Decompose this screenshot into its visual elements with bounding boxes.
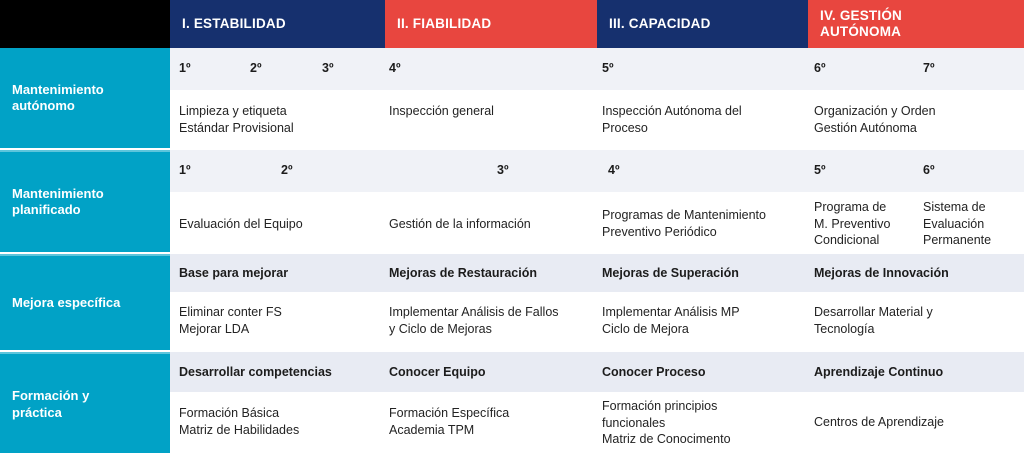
ordinal-marker: 4º — [608, 162, 620, 179]
matrix-entry: Formación principios funcionales Matriz … — [602, 398, 731, 448]
table-row: Formación y práctica Desarrollar compete… — [0, 352, 1024, 453]
matrix-entry: Sistema de Evaluación Permanente — [923, 199, 991, 249]
table-row: Mantenimiento autónomo 1º 2º 3º 4º 5º 6º… — [0, 48, 1024, 150]
ordinal-marker: 3º — [497, 162, 509, 179]
phase-title: Mejoras de Superación — [602, 265, 739, 282]
phase-title: Desarrollar competencias — [179, 364, 332, 381]
entry-band: Limpieza y etiqueta Estándar Provisional… — [170, 90, 1024, 148]
matrix-entry: Implementar Análisis de Fallos y Ciclo d… — [389, 304, 559, 337]
matrix-entry: Programa de M. Preventivo Condicional — [814, 199, 890, 249]
matrix-entry: Inspección Autónoma del Proceso — [602, 103, 742, 136]
entry-band: Evaluación del Equipo Gestión de la info… — [170, 192, 1024, 252]
matrix-entry: Eliminar conter FS Mejorar LDA — [179, 304, 282, 337]
ordinal-marker: 5º — [814, 162, 826, 179]
header-pillar-estabilidad: I. ESTABILIDAD — [170, 0, 385, 48]
row-content-mantenimiento-planificado: 1º 2º 3º 4º 5º 6º Evaluación del Equipo … — [170, 150, 1024, 252]
header-corner-cell — [0, 0, 170, 48]
row-content-mantenimiento-autonomo: 1º 2º 3º 4º 5º 6º 7º Limpieza y etiqueta… — [170, 48, 1024, 148]
matrix-entry: Organización y Orden Gestión Autónoma — [814, 103, 936, 136]
phase-band: Desarrollar competencias Conocer Equipo … — [170, 352, 1024, 392]
table-row: Mejora específica Base para mejorar Mejo… — [0, 254, 1024, 352]
ordinal-marker: 2º — [281, 162, 293, 179]
matrix-entry: Programas de Mantenimiento Preventivo Pe… — [602, 207, 766, 240]
row-label-mantenimiento-autonomo: Mantenimiento autónomo — [0, 48, 170, 148]
header-pillar-capacidad: III. CAPACIDAD — [597, 0, 808, 48]
ordinal-marker: 7º — [923, 60, 935, 77]
phase-title: Mejoras de Restauración — [389, 265, 537, 282]
phase-title: Conocer Proceso — [602, 364, 706, 381]
matrix-body: Mantenimiento autónomo 1º 2º 3º 4º 5º 6º… — [0, 48, 1024, 453]
matrix-entry: Centros de Aprendizaje — [814, 414, 944, 431]
row-label-formacion-y-practica: Formación y práctica — [0, 352, 170, 453]
matrix-entry: Gestión de la información — [389, 216, 531, 233]
matrix-entry: Desarrollar Material y Tecnología — [814, 304, 933, 337]
matrix-header: I. ESTABILIDAD II. FIABILIDAD III. CAPAC… — [0, 0, 1024, 48]
entry-band: Formación Básica Matriz de Habilidades F… — [170, 392, 1024, 453]
ordinal-marker: 6º — [923, 162, 935, 179]
matrix-entry: Limpieza y etiqueta Estándar Provisional — [179, 103, 294, 136]
ordinal-band: 1º 2º 3º 4º 5º 6º 7º — [170, 48, 1024, 90]
ordinal-marker: 3º — [322, 60, 334, 77]
matrix-entry: Formación Específica Academia TPM — [389, 405, 509, 438]
ordinal-marker: 1º — [179, 162, 191, 179]
header-pillar-fiabilidad: II. FIABILIDAD — [385, 0, 597, 48]
ordinal-marker: 2º — [250, 60, 262, 77]
header-pillar-gestion-autonoma: IV. GESTIÓN AUTÓNOMA — [808, 0, 1024, 48]
ordinal-marker: 5º — [602, 60, 614, 77]
ordinal-band: 1º 2º 3º 4º 5º 6º — [170, 150, 1024, 192]
row-label-mejora-especifica: Mejora específica — [0, 254, 170, 350]
phase-title: Mejoras de Innovación — [814, 265, 949, 282]
matrix-entry: Implementar Análisis MP Ciclo de Mejora — [602, 304, 740, 337]
row-label-mantenimiento-planificado: Mantenimiento planificado — [0, 150, 170, 252]
ordinal-marker: 4º — [389, 60, 401, 77]
ordinal-marker: 6º — [814, 60, 826, 77]
phase-band: Base para mejorar Mejoras de Restauració… — [170, 254, 1024, 292]
row-content-mejora-especifica: Base para mejorar Mejoras de Restauració… — [170, 254, 1024, 350]
entry-band: Eliminar conter FS Mejorar LDA Implement… — [170, 292, 1024, 350]
phase-title: Conocer Equipo — [389, 364, 486, 381]
matrix-entry: Formación Básica Matriz de Habilidades — [179, 405, 299, 438]
matrix-entry: Evaluación del Equipo — [179, 216, 303, 233]
phase-title: Base para mejorar — [179, 265, 288, 282]
ordinal-marker: 1º — [179, 60, 191, 77]
row-content-formacion-y-practica: Desarrollar competencias Conocer Equipo … — [170, 352, 1024, 453]
phase-title: Aprendizaje Continuo — [814, 364, 943, 381]
table-row: Mantenimiento planificado 1º 2º 3º 4º 5º… — [0, 150, 1024, 254]
matrix-entry: Inspección general — [389, 103, 494, 120]
tpm-pillar-matrix: I. ESTABILIDAD II. FIABILIDAD III. CAPAC… — [0, 0, 1024, 453]
